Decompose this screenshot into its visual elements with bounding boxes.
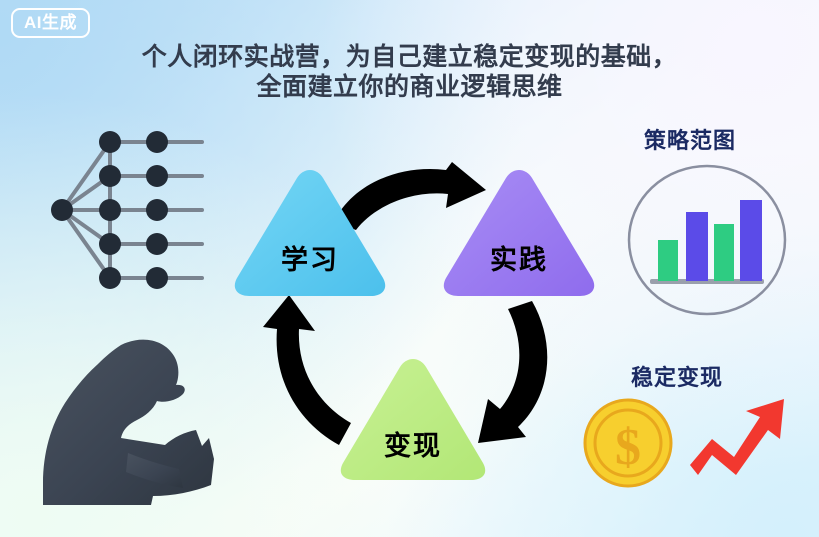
chart-bar-3: [714, 224, 734, 281]
strategy-panel-label: 策略范图: [644, 123, 736, 155]
trending-up-arrow-icon: [684, 395, 792, 481]
chart-bar-1: [658, 240, 678, 281]
triangle-shape-practice: [440, 166, 598, 299]
poster-canvas: AI生成 个人闭环实战营，为自己建立稳定变现的基础， 全面建立你的商业逻辑思维: [0, 0, 819, 537]
dollar-coin-icon: $: [583, 398, 673, 488]
page-title-line-1: 个人闭环实战营，为自己建立稳定变现的基础，: [0, 42, 819, 72]
page-title: 个人闭环实战营，为自己建立稳定变现的基础， 全面建立你的商业逻辑思维: [0, 42, 819, 102]
page-title-line-2: 全面建立你的商业逻辑思维: [0, 72, 819, 102]
ai-generated-badge: AI生成: [11, 8, 90, 38]
chart-bar-4: [740, 200, 762, 281]
dollar-symbol: $: [615, 419, 641, 476]
cycle-node-learn[interactable]: 学习: [231, 166, 389, 299]
triangle-shape-learn: [231, 166, 389, 299]
cycle-node-practice[interactable]: 实践: [440, 166, 598, 299]
cycle-node-monetize[interactable]: 变现: [337, 355, 489, 483]
person-reading-silhouette-icon: [33, 333, 238, 523]
triangle-shape-monetize: [337, 355, 489, 483]
network-tree-icon: [40, 125, 215, 295]
bar-chart-circle-icon: [622, 163, 792, 318]
chart-bar-2: [686, 212, 708, 281]
income-panel-label: 稳定变现: [631, 360, 723, 392]
